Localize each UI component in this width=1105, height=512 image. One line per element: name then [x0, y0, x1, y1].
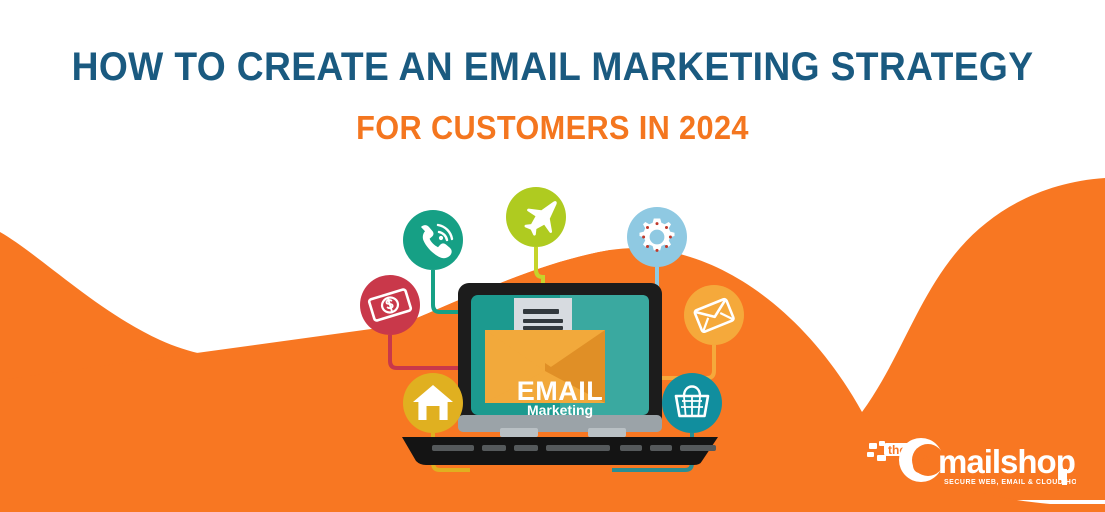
emailshop-logo[interactable]: the e mailshop SECURE WEB, EMAIL & CLOUD… [866, 433, 1076, 491]
page-title: HOW TO CREATE AN EMAIL MARKETING STRATEG… [39, 44, 1067, 90]
banner-canvas: HOW TO CREATE AN EMAIL MARKETING STRATEG… [0, 0, 1105, 512]
screen-subtitle: Marketing [527, 402, 593, 418]
node-gear[interactable] [627, 207, 687, 267]
logo-tagline: SECURE WEB, EMAIL & CLOUD HOSTING [944, 479, 1076, 486]
email-marketing-illustration: EMAIL Marketing [340, 175, 780, 495]
node-home[interactable] [403, 373, 463, 433]
node-mail[interactable] [684, 285, 744, 345]
logo-wordmark: mailshop [938, 443, 1075, 480]
phone-circle [403, 210, 463, 270]
mail-circle [684, 285, 744, 345]
node-phone[interactable] [403, 210, 463, 270]
laptop-hinge-left [500, 428, 538, 437]
logo-right-bar [1062, 469, 1067, 485]
heading-block: HOW TO CREATE AN EMAIL MARKETING STRATEG… [0, 44, 1105, 148]
laptop-hinge-right [588, 428, 626, 437]
node-basket[interactable] [662, 373, 722, 433]
node-money[interactable] [360, 275, 420, 335]
node-plane[interactable] [506, 187, 566, 247]
logo-e-text: e [912, 443, 931, 481]
page-subtitle: FOR CUSTOMERS IN 2024 [39, 108, 1067, 148]
